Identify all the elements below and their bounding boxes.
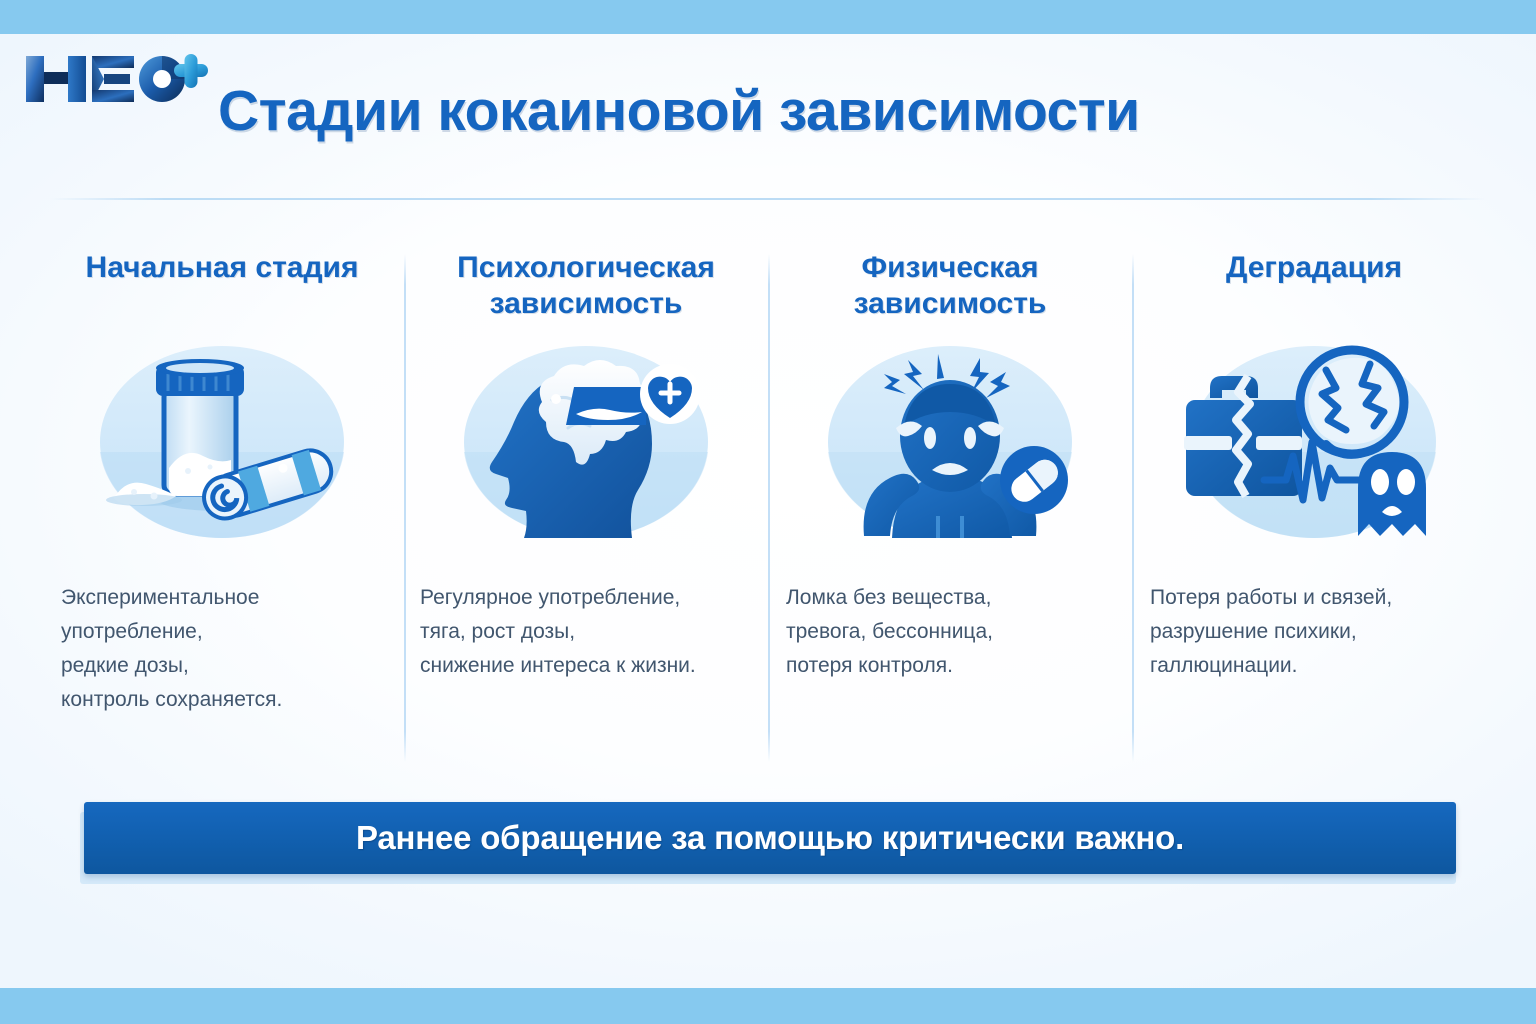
stage-column-2: Психологическая зависимость (404, 250, 768, 770)
top-accent-bar (0, 0, 1536, 34)
powder-jar-and-rolled-bill-icon (92, 340, 352, 545)
logo-letter-e (92, 56, 134, 102)
stage-body-2: Регулярное употребление, тяга, рост дозы… (416, 581, 756, 683)
broken-briefcase-brain-ghost-icon (1184, 340, 1444, 545)
stages-row: Начальная стадия (40, 250, 1496, 770)
distressed-person-pill-icon (820, 340, 1080, 545)
stage-body-1: Экспериментальное употребление, редкие д… (47, 581, 397, 717)
bottom-accent-bar (0, 988, 1536, 1024)
header-divider (50, 198, 1486, 200)
head-brain-heart-plus-icon (456, 340, 716, 545)
cta-banner[interactable]: Раннее обращение за помощью критически в… (84, 802, 1456, 874)
cta-banner-text: Раннее обращение за помощью критически в… (356, 819, 1184, 857)
logo-letter-h (26, 56, 86, 102)
stage-title-1: Начальная стадия (86, 250, 359, 326)
stage-column-1: Начальная стадия (40, 250, 404, 770)
logo-letter-o (139, 56, 185, 102)
stage-body-4: Потеря работы и связей, разрушение психи… (1142, 581, 1486, 683)
stage-title-2: Психологическая зависимость (418, 250, 754, 326)
stage-title-4: Деградация (1226, 250, 1402, 326)
infographic-canvas: Стадии кокаиновой зависимости Начальная … (0, 0, 1536, 1024)
stage-column-4: Деградация (1132, 250, 1496, 770)
stage-title-3: Физическая зависимость (782, 250, 1118, 326)
page-title: Стадии кокаиновой зависимости (218, 78, 1298, 144)
brand-logo[interactable] (22, 48, 208, 110)
stage-body-3: Ломка без вещества, тревога, бессонница,… (778, 581, 1122, 683)
stage-column-3: Физическая зависимость (768, 250, 1132, 770)
